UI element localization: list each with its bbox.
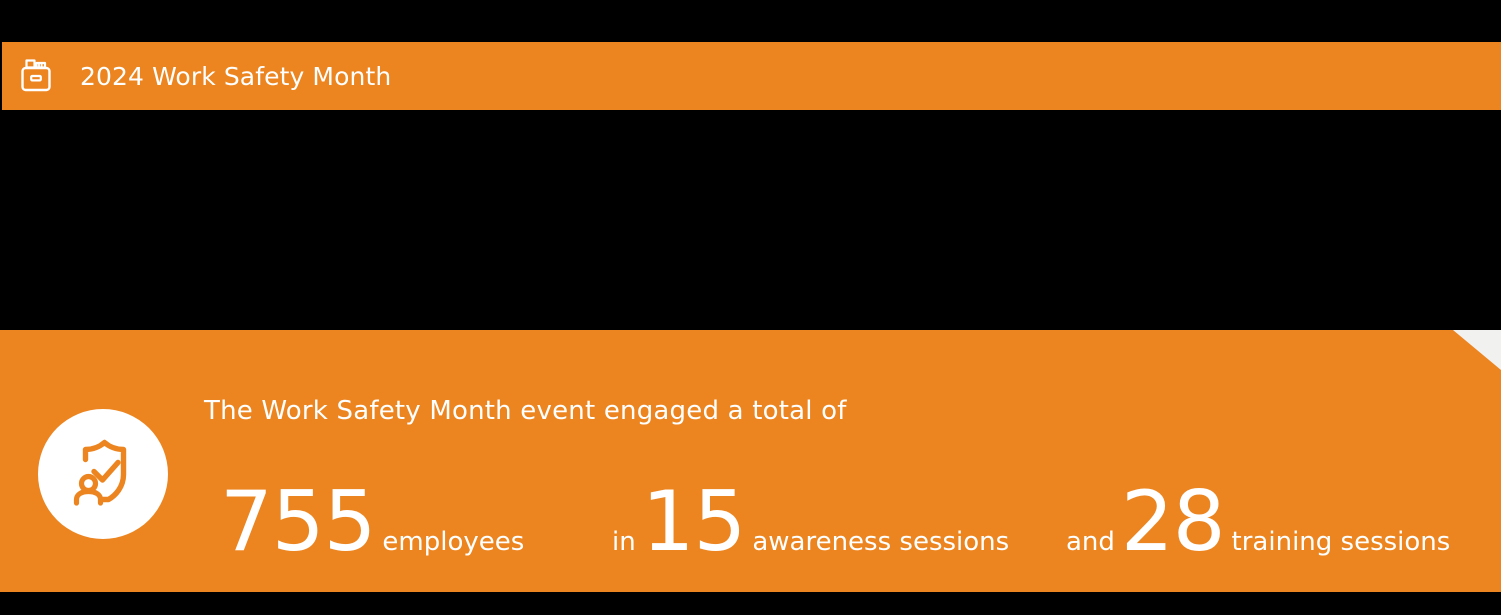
shield-check-person-icon — [38, 409, 168, 539]
stat-item-employees: 755 employees — [220, 485, 524, 560]
page-title: 2024 Work Safety Month — [80, 62, 391, 91]
stat-item-awareness-sessions: in 15 awareness sessions — [612, 485, 1009, 560]
header-bar: 2024 Work Safety Month — [2, 42, 1501, 110]
stat-number: 755 — [220, 485, 375, 560]
stats-row: 755 employees in 15 awareness sessions a… — [204, 455, 1494, 560]
stats-banner-inner: The Work Safety Month event engaged a to… — [0, 330, 1501, 592]
content-gap — [0, 110, 1501, 330]
stat-label: employees — [382, 527, 524, 557]
stat-label: training sessions — [1232, 527, 1451, 557]
stat-item-training-sessions: and 28 training sessions — [1066, 485, 1450, 560]
stat-label: awareness sessions — [752, 527, 1009, 557]
stat-prefix: and — [1066, 527, 1115, 557]
stats-banner: The Work Safety Month event engaged a to… — [0, 330, 1501, 592]
archive-box-icon — [16, 56, 56, 96]
stat-prefix: in — [612, 527, 636, 557]
stat-number: 28 — [1121, 485, 1225, 560]
intro-text: The Work Safety Month event engaged a to… — [204, 396, 847, 426]
stat-number: 15 — [642, 485, 746, 560]
corner-notch-decoration — [1453, 330, 1501, 370]
